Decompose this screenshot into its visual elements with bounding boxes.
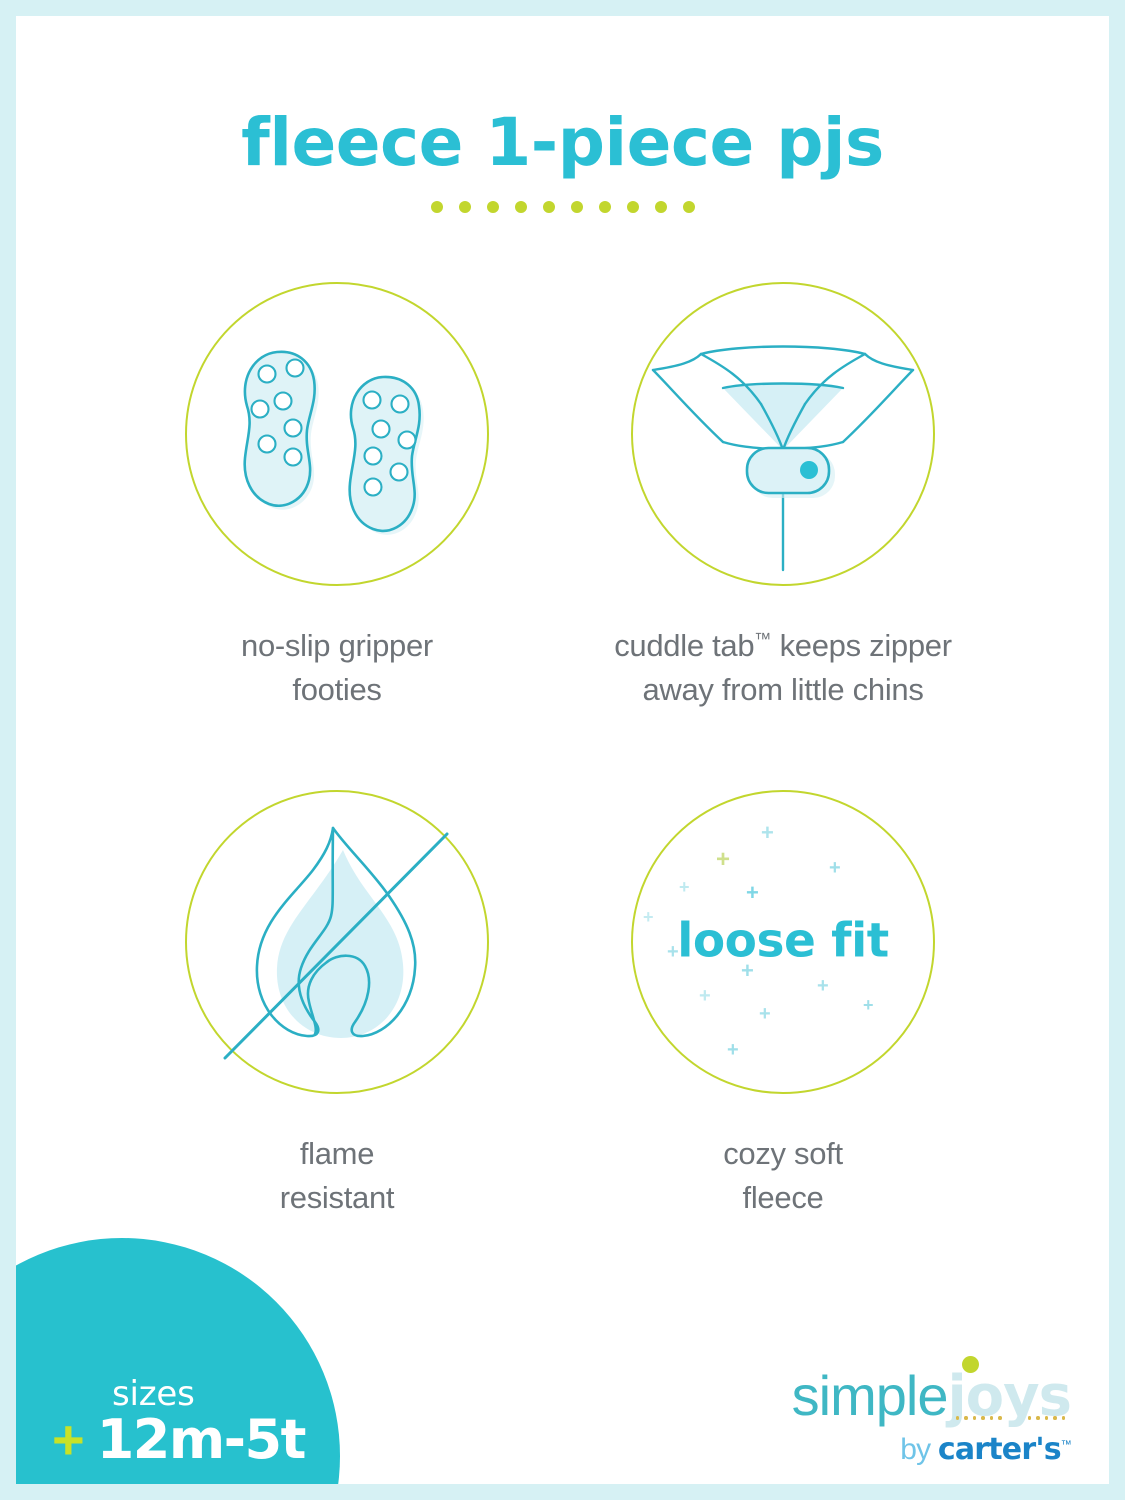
logo-dot [964,1416,968,1420]
sparkle-plus-icon: + [863,996,874,1014]
logo-dot [1062,1416,1066,1420]
card-surface: fleece 1-piece pjs [16,16,1109,1484]
caption-line-1: flame [300,1136,374,1171]
feature-caption: no-slip gripper footies [122,624,552,712]
feature-cozy-soft-fleece: + + + + + + + + + + + + + loose fit cozy… [568,790,998,1220]
caption-line-1: cuddle tab [614,628,754,663]
sparkle-plus-icon: + [829,858,841,878]
caption-line-1: no-slip gripper [241,628,433,663]
no-flame-icon [185,790,489,1094]
divider-dot [599,201,611,213]
logo-j-dot-icon [962,1356,979,1373]
caption-line-2: fleece [743,1180,824,1215]
title-divider-dots [16,201,1109,213]
logo-word-by: by [900,1433,930,1466]
feature-caption: flame resistant [122,1132,552,1220]
gripper-footies-icon [185,282,489,586]
feature-flame-resistant: flame resistant [122,790,552,1220]
logo-underline-dots [956,1416,1066,1420]
divider-dot [571,201,583,213]
feature-icon-circle: + + + + + + + + + + + + + loose fit [631,790,935,1094]
caption-line-1: cozy soft [723,1136,843,1171]
page-title: fleece 1-piece pjs [16,104,1109,181]
sparkle-plus-icon: + [746,882,759,904]
logo-dot [998,1416,1002,1420]
sizes-range-row: + 12m-5t [52,1412,305,1468]
logo-dot-gap [1007,1416,1023,1420]
cuddle-tab-collar-icon [631,282,935,586]
sparkle-plus-icon: + [679,878,690,896]
feature-no-slip-gripper-footies: no-slip gripper footies [122,282,552,712]
feature-caption: cozy soft fleece [568,1132,998,1220]
logo-dot [1053,1416,1057,1420]
brand-logo: simplejoys by [771,1368,1071,1465]
logo-dot [1036,1416,1040,1420]
logo-word-carters: carter's [938,1432,1061,1467]
divider-dot [627,201,639,213]
loose-fit-badge-text: loose fit [631,913,935,968]
feature-cuddle-tab: cuddle tab™ keeps zipper away from littl… [568,282,998,712]
logo-dot [973,1416,977,1420]
logo-dot [990,1416,994,1420]
logo-dot [1028,1416,1032,1420]
sparkle-plus-icon: + [716,848,730,872]
logo-trademark: ™ [1061,1439,1071,1451]
feature-icon-circle [185,282,489,586]
divider-dot [543,201,555,213]
divider-dot [683,201,695,213]
sizes-range: 12m-5t [97,1413,305,1467]
logo-wordmark: simplejoys [771,1368,1071,1425]
divider-dot [459,201,471,213]
divider-dot [431,201,443,213]
caption-line-2: footies [292,672,381,707]
caption-line-2: away from little chins [642,672,923,707]
plus-icon: + [52,1412,85,1468]
divider-dot [655,201,667,213]
sparkle-plus-icon: + [727,1040,739,1060]
logo-dot [1045,1416,1049,1420]
logo-subtitle: by carter's™ [771,1435,1071,1465]
sparkle-plus-icon: + [759,1004,771,1024]
logo-word-simple: simple [792,1364,948,1427]
logo-dot [956,1416,960,1420]
divider-dot [487,201,499,213]
product-feature-infographic: fleece 1-piece pjs [0,0,1125,1500]
trademark-symbol: ™ [754,630,771,649]
feature-caption: cuddle tab™ keeps zipper away from littl… [568,624,998,712]
sparkle-plus-icon: + [699,986,711,1006]
sparkle-plus-icon: + [761,822,774,844]
caption-line-2: resistant [280,1180,394,1215]
divider-dot [515,201,527,213]
sparkle-plus-icon: + [817,976,829,996]
feature-icon-circle [185,790,489,1094]
logo-dot [981,1416,985,1420]
feature-icon-circle [631,282,935,586]
caption-line-1-rest: keeps zipper [771,628,951,663]
